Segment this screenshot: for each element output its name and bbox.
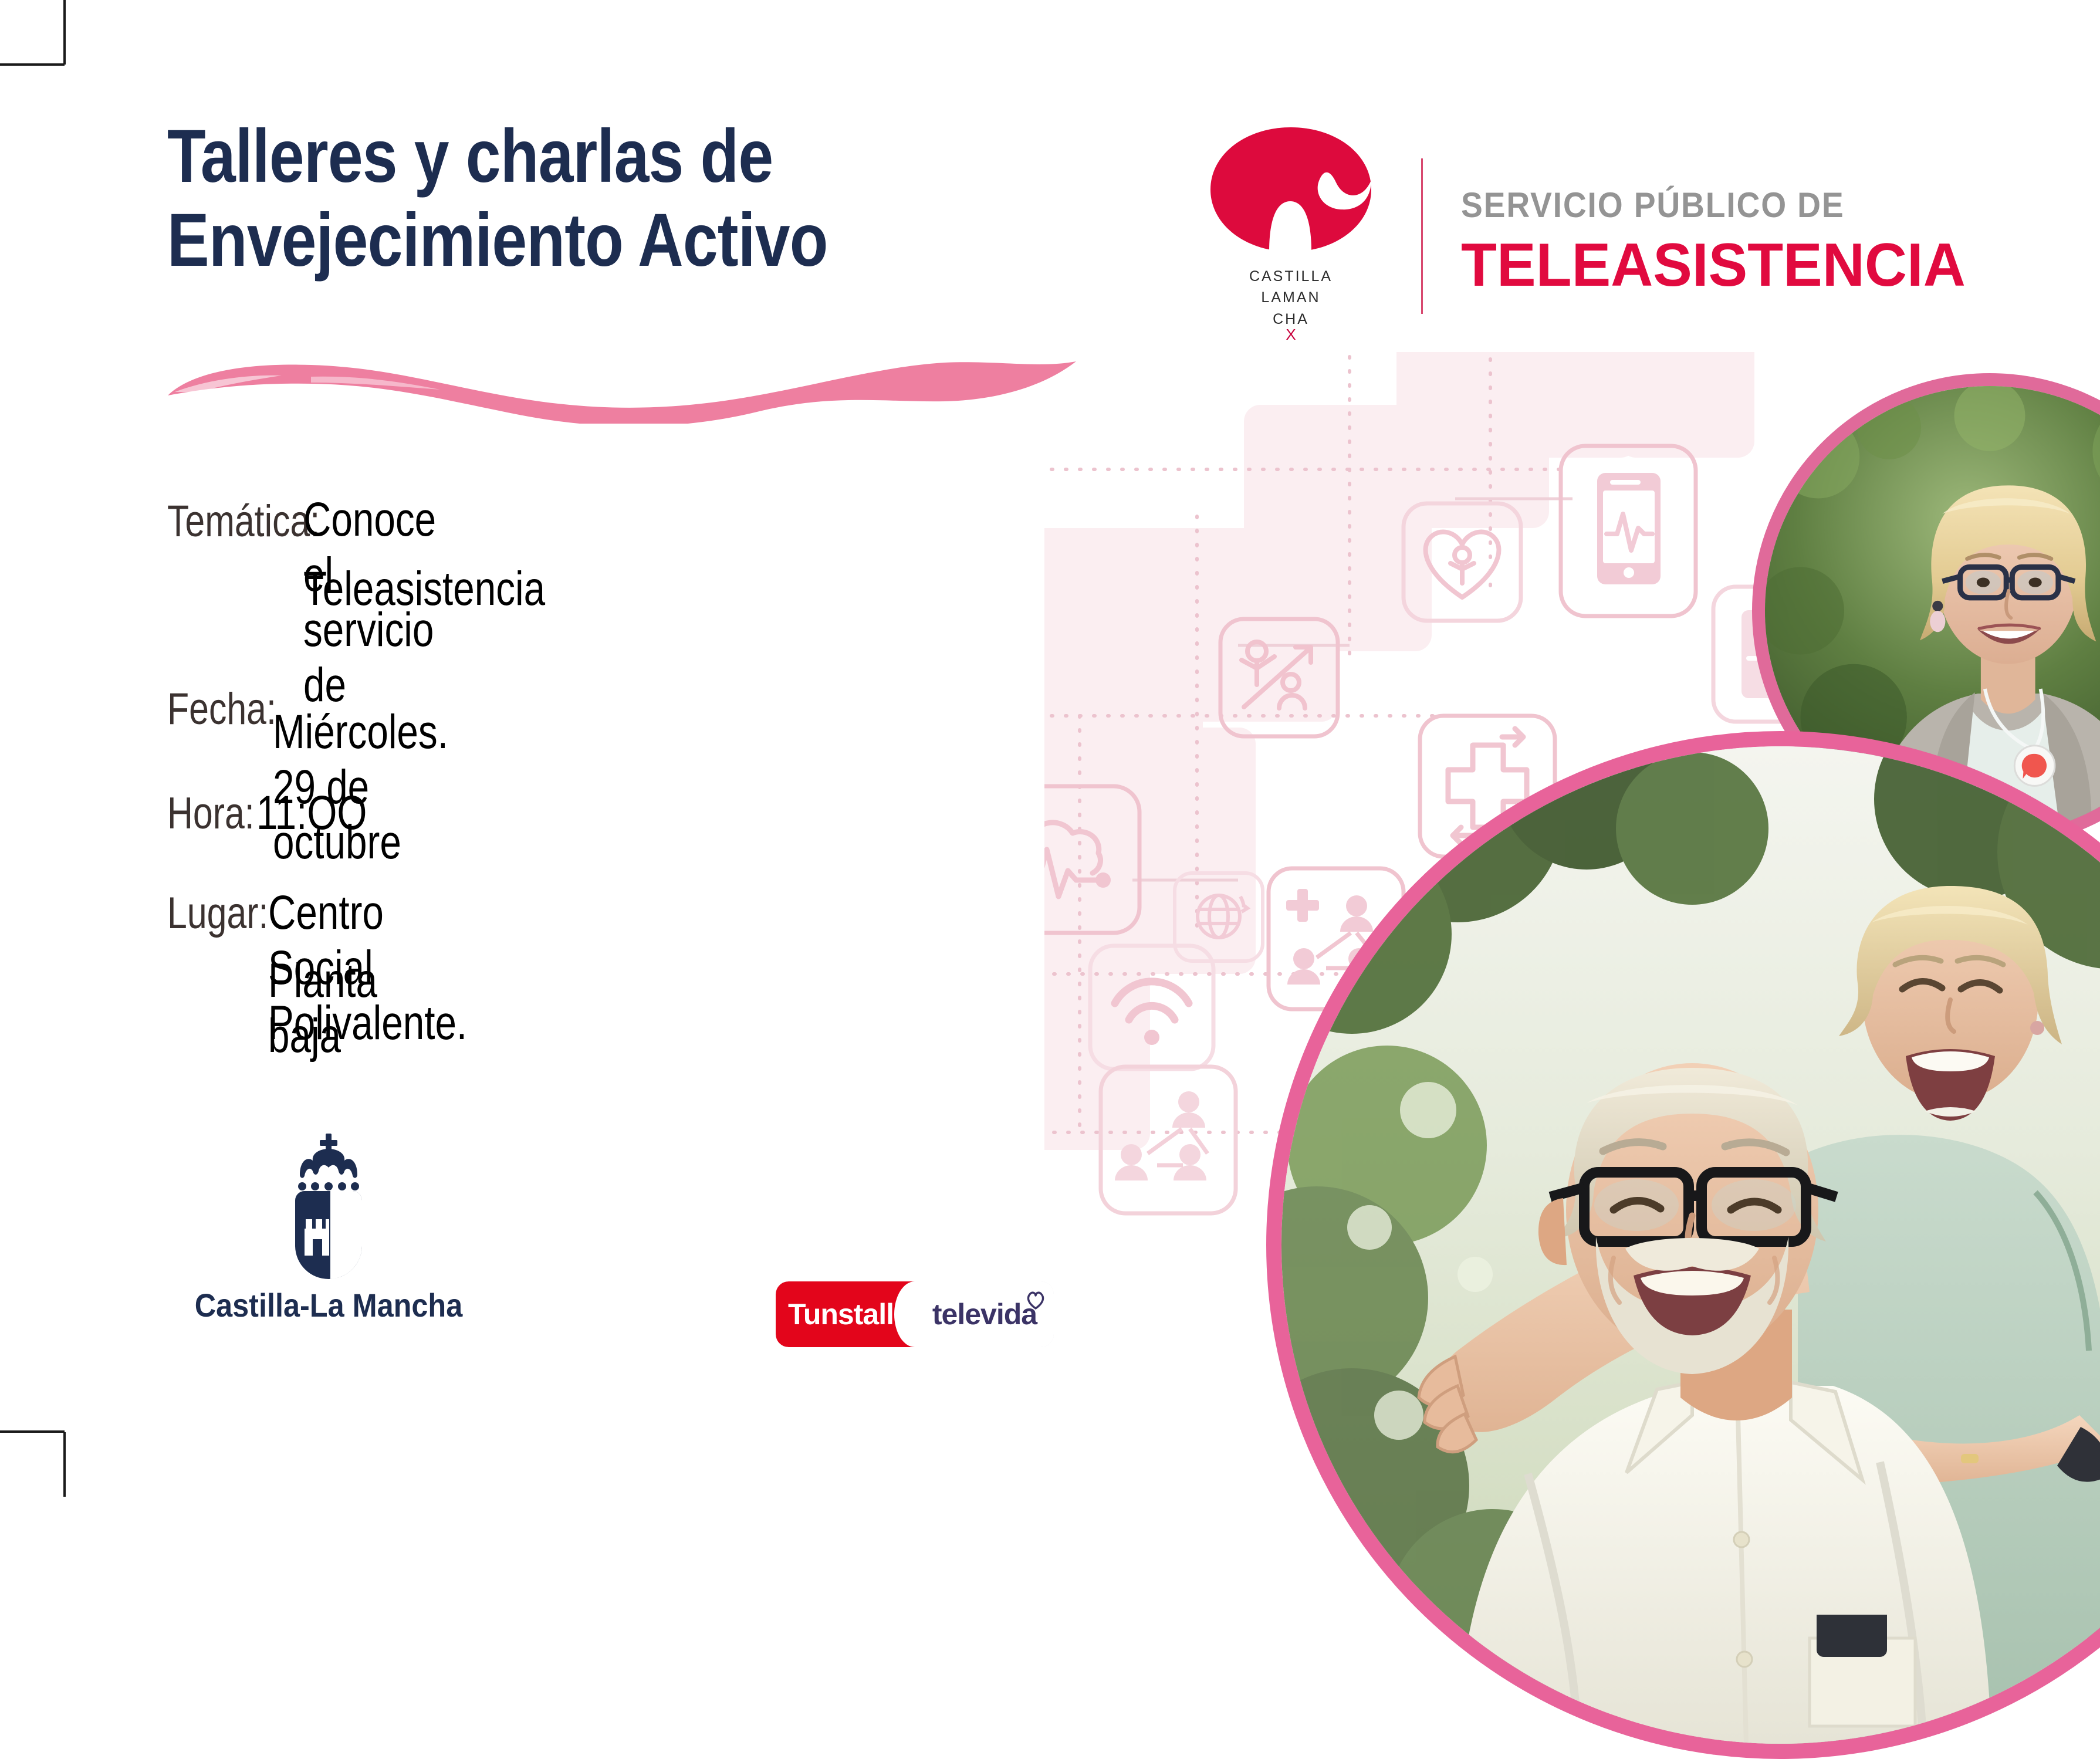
tunstall-wordmark: Tunstall (788, 1297, 894, 1331)
teleasistencia-service-logo: CASTILLA LAMAN CHA X SERVICIO PÚBLICO DE… (1197, 126, 2018, 331)
castilla-la-mancha-emblem-icon (1206, 126, 1376, 261)
tunstall-logo-left: Tunstall (776, 1281, 915, 1347)
televida-wordmark: televida (932, 1297, 1037, 1331)
page-title-line-2: Envejecimiento Activo (167, 198, 1005, 282)
heart-icon (1026, 1291, 1046, 1310)
logo-divider (1421, 158, 1423, 314)
page-title: Talleres y charlas de Envejecimiento Act… (167, 114, 1005, 283)
coat-of-arms-icon (279, 1132, 378, 1279)
government-logo-name: Castilla-La Mancha (191, 1286, 466, 1324)
crop-mark-bottom-left-vertical (63, 1432, 66, 1497)
emblem-region-text: CASTILLA LAMAN CHA (1209, 266, 1373, 330)
fecha-label: Fecha: (167, 684, 276, 735)
crop-mark-top-left-vertical (63, 0, 66, 65)
lugar-value-continued: Planta baja (268, 953, 377, 1064)
castilla-la-mancha-government-logo: Castilla-La Mancha (176, 1132, 481, 1338)
tematica-value-continued: Teleasistencia (303, 561, 545, 617)
crop-mark-bottom-left-horizontal (0, 1430, 65, 1433)
tunstall-televida-logo: Tunstall televida (776, 1281, 1054, 1347)
emblem-x-mark: X (1209, 326, 1373, 344)
service-brand-text: TELEASISTENCIA (1461, 231, 1966, 300)
service-kicker-text: SERVICIO PÚBLICO DE (1461, 185, 1845, 225)
crop-mark-top-left-horizontal (0, 63, 65, 66)
televida-logo-right: televida (915, 1281, 1054, 1347)
hora-value: 11:OO (256, 786, 367, 841)
brush-stroke-underline (164, 359, 1080, 424)
emblem-region-line-2: LAMAN (1209, 287, 1373, 308)
page-title-line-1: Talleres y charlas de (167, 114, 1005, 198)
hora-label: Hora: (167, 788, 255, 839)
lugar-label: Lugar: (167, 888, 268, 939)
emblem-region-line-1: CASTILLA (1209, 266, 1373, 287)
tematica-label: Temática: (167, 496, 320, 547)
